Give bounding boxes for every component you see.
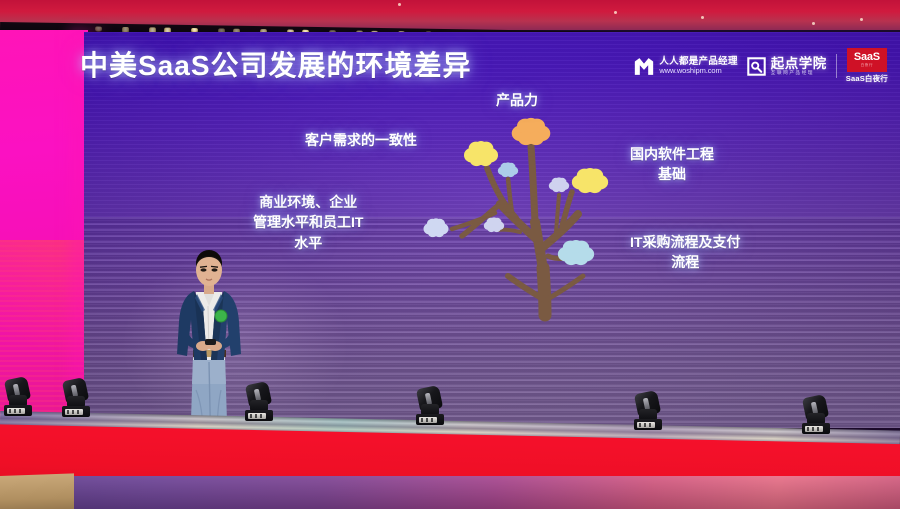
stage-light-1	[3, 378, 33, 418]
ceiling-dot	[860, 18, 863, 21]
logo-divider	[836, 54, 837, 78]
woshipm-url: www.woshipm.com	[659, 67, 737, 75]
ceiling-dot	[812, 22, 815, 25]
brand-logo-row: 人人都是产品经理 www.woshipm.com 起点学院 互联网产品经理 Sa…	[634, 46, 888, 86]
truss-light	[95, 26, 102, 31]
ceiling-dot	[398, 3, 401, 6]
tree-label-product-power: 产品力	[496, 90, 538, 110]
saas-box-sublabel: 白夜行	[861, 64, 874, 68]
qidian-name: 起点学院	[771, 57, 827, 71]
saas-badge: SaaS 白夜行 SaaS白夜行	[846, 48, 888, 84]
ceiling-dot	[614, 11, 617, 14]
light-label-plate	[65, 409, 83, 415]
qidian-square-icon	[747, 57, 766, 76]
stage-photo-scene: 中美SaaS公司发展的环境差异 人人都是产品经理 www.woshipm.com…	[0, 0, 900, 509]
saas-box-label: SaaS	[854, 52, 880, 63]
light-label-plate	[7, 408, 25, 414]
saas-red-box: SaaS 白夜行	[847, 48, 887, 72]
qidian-subtitle: 互联网产品经理	[771, 71, 827, 76]
light-label-plate	[637, 422, 655, 428]
woshipm-logo: 人人都是产品经理 www.woshipm.com	[634, 57, 737, 76]
light-label-plate	[419, 417, 437, 423]
ceiling-dot	[701, 16, 704, 19]
light-label-plate	[248, 413, 266, 419]
side-led-panel-magenta	[0, 30, 88, 430]
stage-light-4	[415, 387, 445, 427]
venue-floor-wood	[0, 473, 74, 509]
tree-label-biz-env-mgmt-it: 商业环境、企业 管理水平和员工IT 水平	[253, 192, 363, 253]
stage-light-2	[61, 379, 91, 419]
stage-light-3	[244, 383, 274, 423]
venue-floor-reflection	[0, 476, 900, 509]
slide-title: 中美SaaS公司发展的环境差异	[80, 44, 472, 84]
qidian-logo: 起点学院 互联网产品经理	[747, 57, 827, 76]
m-logo-icon	[634, 57, 654, 76]
saas-badge-caption: SaaS白夜行	[846, 73, 888, 84]
light-label-plate	[805, 426, 823, 432]
tree-label-demand-consistency: 客户需求的一致性	[305, 130, 417, 150]
stage-light-6	[801, 396, 831, 436]
tree-label-it-procure-pay: IT采购流程及支付 流程	[630, 232, 740, 273]
stage-light-5	[633, 392, 663, 432]
tree-label-domestic-se-base: 国内软件工程 基础	[630, 144, 714, 185]
